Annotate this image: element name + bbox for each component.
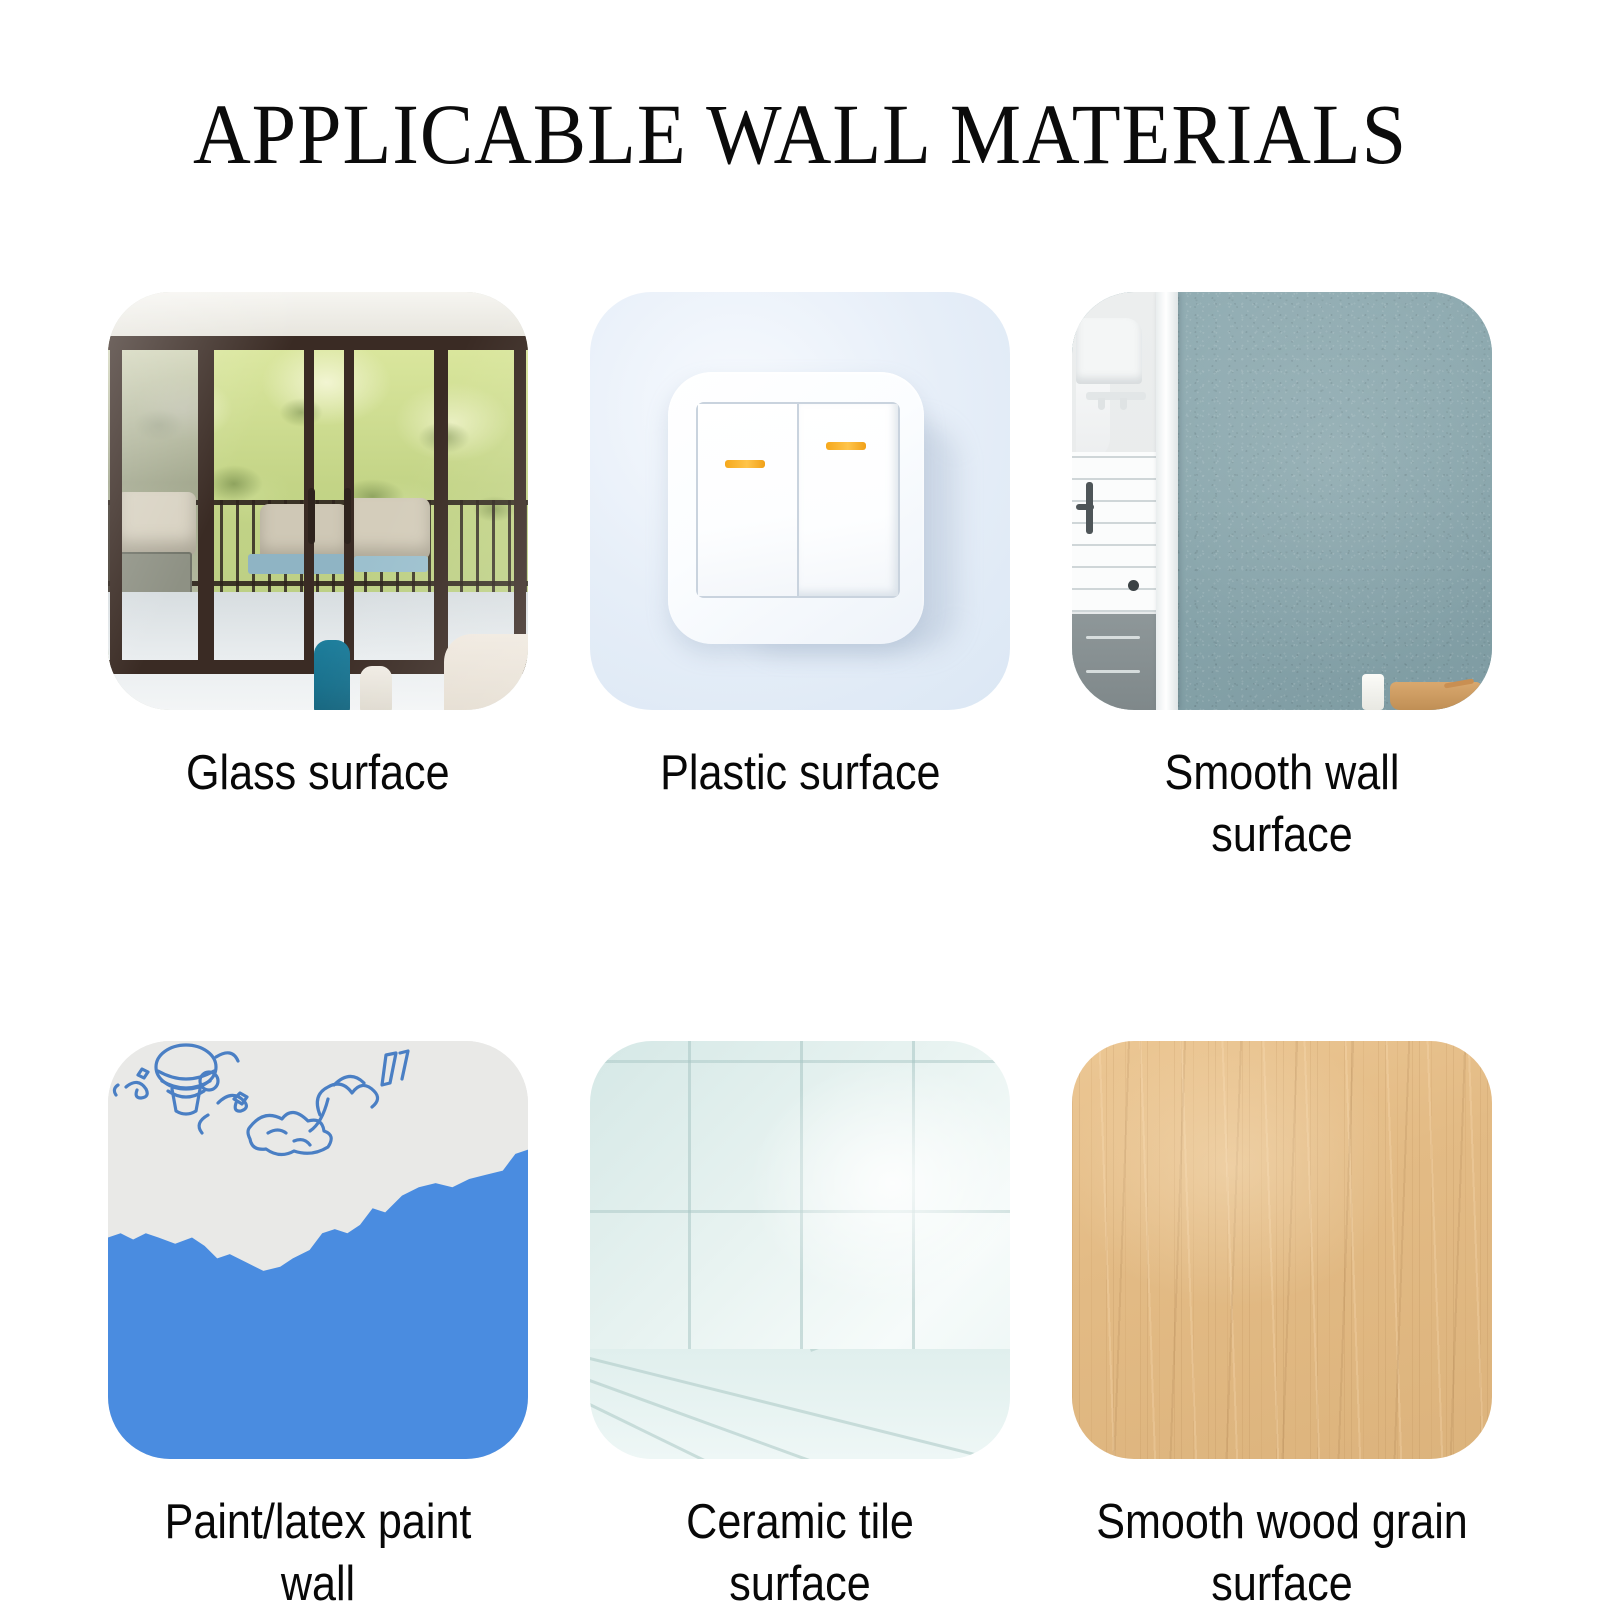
switch-rocker-group <box>696 402 900 598</box>
infographic-page: APPLICABLE WALL MATERIALS <box>0 0 1600 1600</box>
foreground-decor <box>1356 664 1486 710</box>
caption-plastic-surface: Plastic surface <box>660 742 940 804</box>
wall-hook-rail <box>1086 392 1146 400</box>
cabinet-knob <box>1128 580 1139 591</box>
tiled-floor <box>590 1349 1010 1459</box>
door-frame-mullion-6 <box>514 336 526 674</box>
door-frame-mullion-5 <box>434 336 448 674</box>
white-vase <box>360 666 392 710</box>
materials-grid: Glass surface Plastic surf <box>103 292 1497 1615</box>
wall-doodle-drawings-icon <box>108 1041 528 1191</box>
subway-tile-backsplash <box>1072 452 1158 612</box>
caption-glass-surface: Glass surface <box>186 742 450 804</box>
indicator-bar-right-icon <box>826 442 866 450</box>
material-cell-smooth-wood-grain-surface: Smooth wood grain surface <box>1067 1041 1497 1615</box>
door-handle-right <box>344 488 351 544</box>
rocker-right <box>797 404 898 596</box>
plastic-surface-image <box>590 292 1010 710</box>
smooth-wood-grain-surface-image <box>1072 1041 1492 1459</box>
white-candle <box>1362 674 1384 710</box>
kitchen-faucet <box>1086 482 1093 534</box>
material-cell-ceramic-tile-surface: Ceramic tile surface <box>585 1041 1015 1615</box>
cream-armchair <box>444 634 528 710</box>
paint-latex-paint-wall-image <box>108 1041 528 1459</box>
glass-surface-image <box>108 292 528 710</box>
door-frame-top <box>108 336 528 350</box>
material-cell-paint-latex-paint-wall: Paint/latex paint wall <box>103 1041 533 1615</box>
white-wall-trim <box>1156 292 1178 710</box>
materials-row-2: Paint/latex paint wall Ceramic tile surf… <box>103 1041 1497 1615</box>
glass-side-table <box>354 556 428 572</box>
wooden-tray <box>1390 682 1482 710</box>
caption-ceramic-tile-surface: Ceramic tile surface <box>611 1491 989 1615</box>
wood-sheen-highlight <box>1072 1041 1492 1459</box>
door-handle-left <box>308 488 315 544</box>
rocker-left <box>698 404 797 596</box>
sofa-left <box>116 492 196 556</box>
smooth-wall-surface-image <box>1072 292 1492 710</box>
caption-paint-latex-paint-wall: Paint/latex paint wall <box>129 1491 507 1615</box>
ceiling-soffit <box>108 292 528 340</box>
kitchen-background <box>1072 292 1158 710</box>
gray-base-cabinet <box>1072 614 1158 710</box>
page-title: APPLICABLE WALL MATERIALS <box>56 86 1544 182</box>
door-frame-mullion-2 <box>198 336 214 674</box>
materials-row-1: Glass surface Plastic surf <box>103 292 1497 866</box>
material-cell-smooth-wall-surface: Smooth wall surface <box>1067 292 1497 866</box>
glass-coffee-table <box>248 554 346 574</box>
door-frame-mullion-1 <box>110 336 122 674</box>
indicator-bar-left-icon <box>725 460 765 468</box>
material-cell-glass-surface: Glass surface <box>103 292 533 804</box>
material-cell-plastic-surface: Plastic surface <box>585 292 1015 804</box>
tile-grout-grid <box>590 1041 1010 1363</box>
caption-smooth-wall-surface: Smooth wall surface <box>1093 742 1471 866</box>
caption-smooth-wood-grain-surface: Smooth wood grain surface <box>1093 1491 1471 1615</box>
sofa-right <box>344 498 430 560</box>
range-hood <box>1076 318 1142 384</box>
ceramic-tile-surface-image <box>590 1041 1010 1459</box>
teal-vase <box>314 640 350 710</box>
